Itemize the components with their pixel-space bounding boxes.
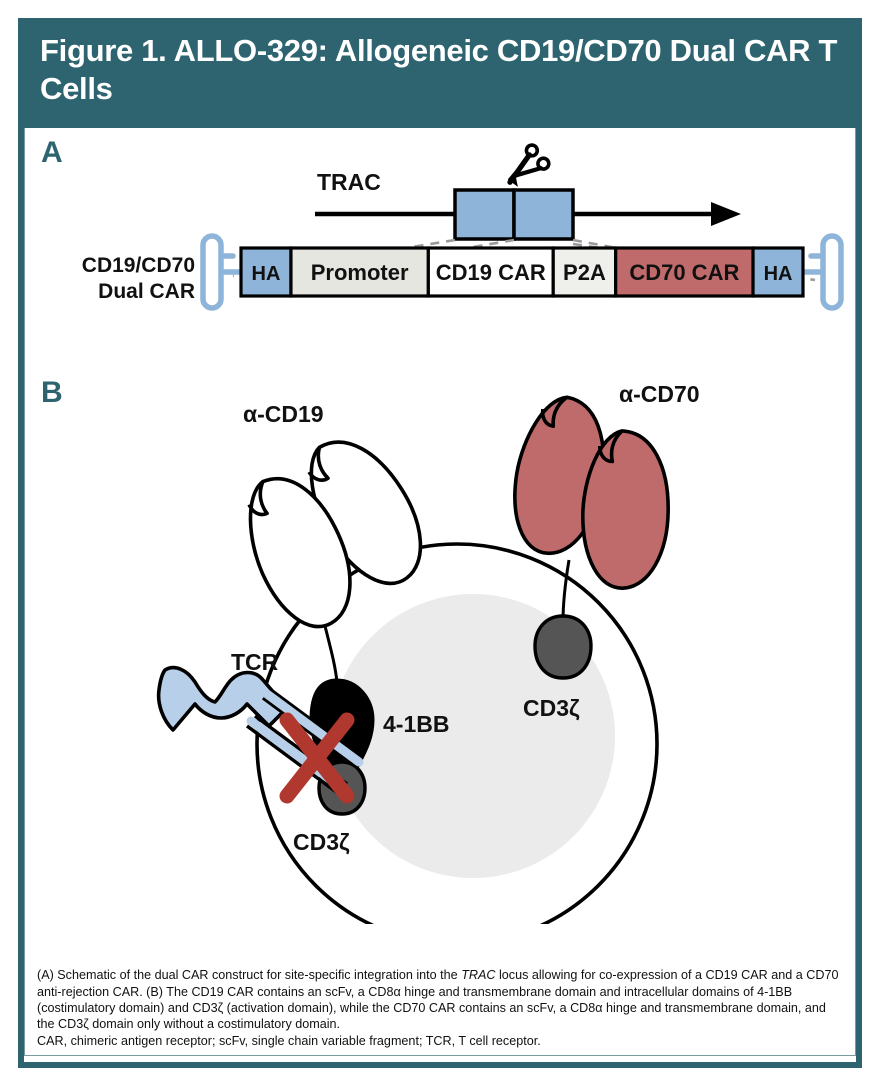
construct-segment-label-4: CD70 CAR [629, 260, 739, 285]
trac-exon-box-left [455, 190, 514, 239]
construct-segment-label-3: P2A [563, 260, 606, 285]
figure-root: Figure 1. ALLO-329: Allogeneic CD19/CD70… [0, 0, 880, 1082]
footnote-trac-italic: TRAC [461, 968, 495, 982]
footnote-part-a: (A) Schematic of the dual CAR construct … [37, 968, 461, 982]
construct-segment-label-5: HA [764, 263, 793, 285]
scissors-icon [507, 141, 553, 194]
dual-car-construct-bar: HAPromoterCD19 CARP2ACD70 CARHA [241, 248, 803, 296]
tcr-label: TCR [231, 649, 279, 675]
dual-car-label-line2: Dual CAR [98, 280, 195, 303]
trac-locus-label: TRAC [317, 169, 381, 195]
figure-body: A B TRAC [24, 128, 856, 1056]
cd3zeta-domain-right [535, 616, 591, 678]
trac-exon-box-right [514, 190, 573, 239]
costim-4-1bb-label: 4-1BB [383, 711, 449, 737]
footnote-abbreviations: CAR, chimeric antigen receptor; scFv, si… [37, 1033, 845, 1049]
panel-a-diagram: TRAC [25, 128, 856, 368]
scfv-cd70-label: α-CD70 [619, 381, 700, 407]
construct-bracket-right [803, 236, 841, 308]
figure-title: Figure 1. ALLO-329: Allogeneic CD19/CD70… [40, 32, 840, 108]
figure-footnote: (A) Schematic of the dual CAR construct … [25, 961, 855, 1055]
construct-segment-label-1: Promoter [311, 260, 409, 285]
scfv-cd19-label: α-CD19 [243, 401, 324, 427]
footnote-main-text: (A) Schematic of the dual CAR construct … [37, 967, 845, 1032]
construct-segment-label-0: HA [252, 263, 281, 285]
figure-header: Figure 1. ALLO-329: Allogeneic CD19/CD70… [24, 24, 856, 128]
figure-frame: Figure 1. ALLO-329: Allogeneic CD19/CD70… [18, 18, 862, 1068]
construct-bracket-left [203, 236, 241, 308]
cd3zeta-label-left: CD3ζ [293, 829, 350, 855]
construct-segment-label-2: CD19 CAR [436, 260, 546, 285]
dual-car-label-line1: CD19/CD70 [82, 254, 195, 277]
trac-arrowhead [711, 202, 741, 226]
panel-b-diagram: α-CD19 4-1BB CD3ζ [25, 364, 856, 924]
cd3zeta-label-right: CD3ζ [523, 695, 580, 721]
